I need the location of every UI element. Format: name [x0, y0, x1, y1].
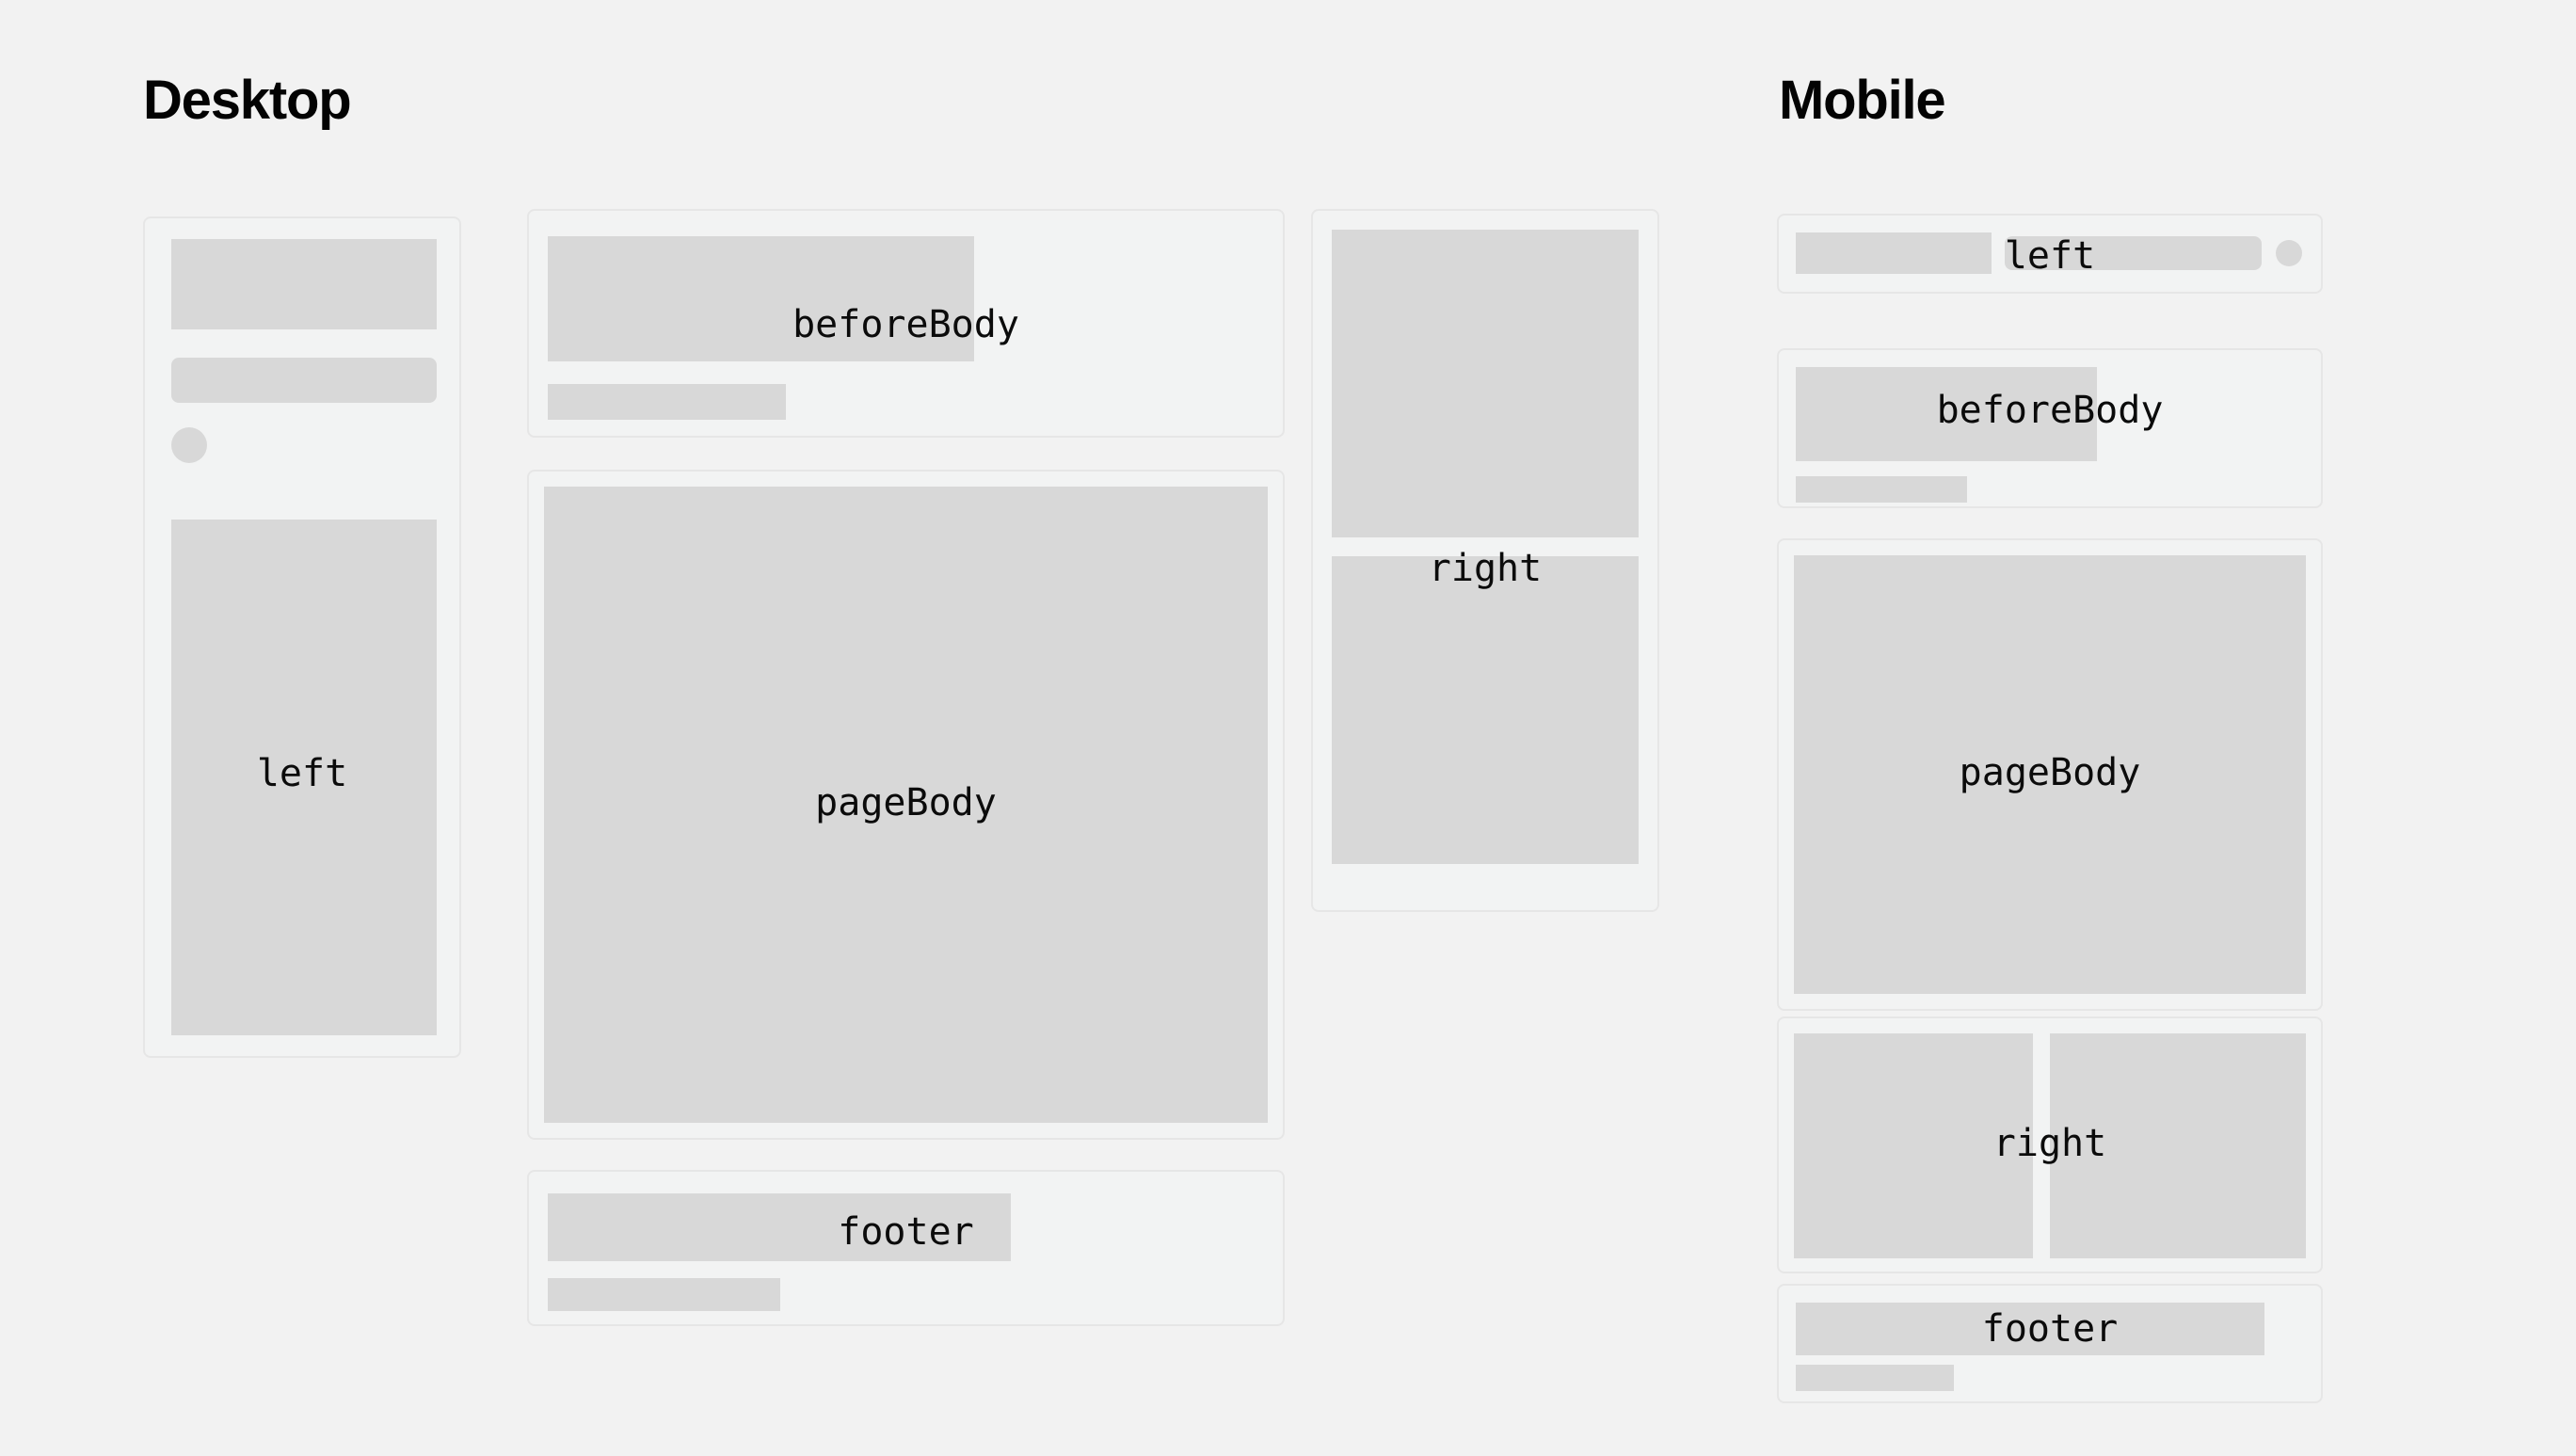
desktop-footer-panel[interactable]: footer [527, 1170, 1285, 1326]
desktop-left-panel[interactable]: left [143, 216, 461, 1058]
skeleton-bar [548, 1193, 1011, 1261]
skeleton-block [1332, 556, 1639, 864]
desktop-beforebody-panel[interactable]: beforeBody [527, 209, 1285, 438]
mobile-left-panel[interactable]: left [1777, 214, 2323, 294]
skeleton-bar [548, 384, 786, 420]
mobile-beforebody-panel[interactable]: beforeBody [1777, 348, 2323, 508]
wireframe-canvas: Desktop left beforeBody pageBody right f… [0, 0, 2576, 1456]
skeleton-block [1332, 230, 1639, 537]
mobile-pagebody-panel[interactable]: pageBody [1777, 538, 2323, 1011]
skeleton-block [2050, 1033, 2306, 1258]
mobile-footer-panel[interactable]: footer [1777, 1284, 2323, 1403]
skeleton-bar [1796, 1365, 1954, 1391]
skeleton-bar [1796, 476, 1967, 503]
desktop-right-panel[interactable]: right [1311, 209, 1659, 912]
skeleton-block [1794, 555, 2306, 994]
skeleton-block [1796, 367, 2097, 461]
skeleton-block [1796, 232, 1992, 274]
desktop-pagebody-panel[interactable]: pageBody [527, 470, 1285, 1140]
skeleton-bar [171, 358, 437, 403]
skeleton-block [171, 239, 437, 329]
mobile-section-title: Mobile [1779, 73, 1944, 128]
skeleton-block [1794, 1033, 2033, 1258]
skeleton-avatar-circle [2276, 240, 2302, 266]
skeleton-avatar-circle [171, 427, 207, 463]
desktop-section-title: Desktop [143, 73, 350, 128]
mobile-right-panel[interactable]: right [1777, 1016, 2323, 1273]
skeleton-block [544, 487, 1268, 1123]
skeleton-block [171, 520, 437, 1035]
skeleton-bar [2005, 236, 2262, 270]
skeleton-block [548, 236, 974, 361]
skeleton-bar [548, 1278, 780, 1311]
skeleton-bar [1796, 1303, 2264, 1355]
